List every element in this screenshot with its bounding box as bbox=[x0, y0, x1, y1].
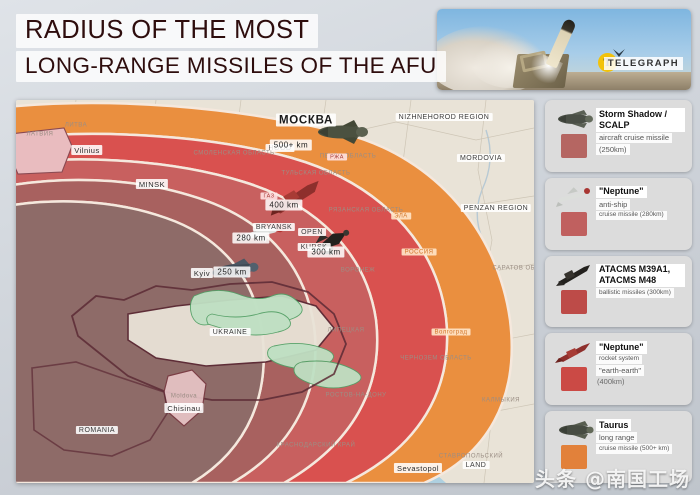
legend-swatch-atacms bbox=[561, 290, 587, 314]
legend-title-neptune-rocket: "Neptune" bbox=[596, 341, 647, 353]
infographic-root: RADIUS OF THE MOST LONG-RANGE MISSILES O… bbox=[0, 0, 700, 495]
legend-card-neptune-rocket[interactable]: "Neptune" rocket system "earth-earth" (4… bbox=[545, 333, 692, 405]
range-map[interactable]: NIZHNEHOROD REGIONMORDOVIAPENZAN REGIONH… bbox=[16, 100, 534, 483]
legend-card-storm-shadow[interactable]: Storm Shadow / SCALP aircraft cruise mis… bbox=[545, 100, 692, 172]
legend-left-column bbox=[552, 184, 596, 244]
legend-sub1-storm-shadow: aircraft cruise missile bbox=[596, 133, 672, 144]
legend-title-taurus: Taurus bbox=[596, 419, 631, 431]
legend-panel: Storm Shadow / SCALP aircraft cruise mis… bbox=[545, 100, 692, 483]
legend-title-atacms: ATACMS M39A1, ATACMS M48 bbox=[596, 264, 685, 288]
map-graphic bbox=[16, 100, 534, 483]
legend-sub2-neptune-antiship: cruise missile (280km) bbox=[596, 211, 667, 220]
missile-launch-photo: T TELEGRAPH bbox=[437, 9, 691, 90]
legend-text-column: Storm Shadow / SCALP aircraft cruise mis… bbox=[596, 106, 685, 166]
legend-title-storm-shadow: Storm Shadow / SCALP bbox=[596, 108, 685, 132]
legend-card-atacms[interactable]: ATACMS M39A1, ATACMS M48 ballistic missi… bbox=[545, 256, 692, 328]
legend-text-column: ATACMS M39A1, ATACMS M48 ballistic missi… bbox=[596, 262, 685, 322]
legend-sub2-storm-shadow: (250km) bbox=[596, 144, 630, 155]
rail-launched-missile-icon bbox=[554, 186, 594, 208]
legend-card-neptune-antiship[interactable]: "Neptune" anti-ship cruise missile (280k… bbox=[545, 178, 692, 250]
legend-sub1-neptune-antiship: anti-ship bbox=[596, 199, 630, 210]
taurus-missile-icon bbox=[554, 419, 594, 441]
ballistic-missile-icon bbox=[554, 264, 594, 286]
legend-swatch-neptune-antiship bbox=[561, 212, 587, 236]
title-line-secondary: LONG-RANGE MISSILES OF THE AFU bbox=[16, 51, 446, 82]
legend-text-column: "Neptune" anti-ship cruise missile (280k… bbox=[596, 184, 685, 244]
cruise-missile-icon bbox=[554, 108, 594, 130]
title-line-primary: RADIUS OF THE MOST bbox=[16, 14, 318, 48]
legend-sub3-neptune-rocket: (400km) bbox=[596, 377, 628, 388]
legend-sub2-neptune-rocket: "earth-earth" bbox=[596, 365, 644, 376]
legend-sub1-taurus: long range bbox=[596, 432, 637, 443]
legend-swatch-storm-shadow bbox=[561, 134, 587, 158]
legend-swatch-neptune-rocket bbox=[561, 367, 587, 391]
legend-title-neptune-antiship: "Neptune" bbox=[596, 186, 647, 198]
legend-sub1-atacms: ballistic missiles (300km) bbox=[596, 288, 674, 297]
legend-sub2-taurus: cruise missile (500+ km) bbox=[596, 444, 672, 453]
legend-text-column: "Neptune" rocket system "earth-earth" (4… bbox=[596, 339, 685, 399]
watermark: 头条 @南国工场 bbox=[535, 463, 690, 492]
telegraph-wordmark: TELEGRAPH bbox=[604, 57, 683, 70]
page-title: RADIUS OF THE MOST LONG-RANGE MISSILES O… bbox=[16, 14, 446, 82]
red-rocket-icon bbox=[554, 341, 594, 363]
legend-left-column bbox=[552, 339, 596, 399]
legend-left-column bbox=[552, 106, 596, 166]
legend-left-column bbox=[552, 262, 596, 322]
legend-sub1-neptune-rocket: rocket system bbox=[596, 355, 642, 364]
